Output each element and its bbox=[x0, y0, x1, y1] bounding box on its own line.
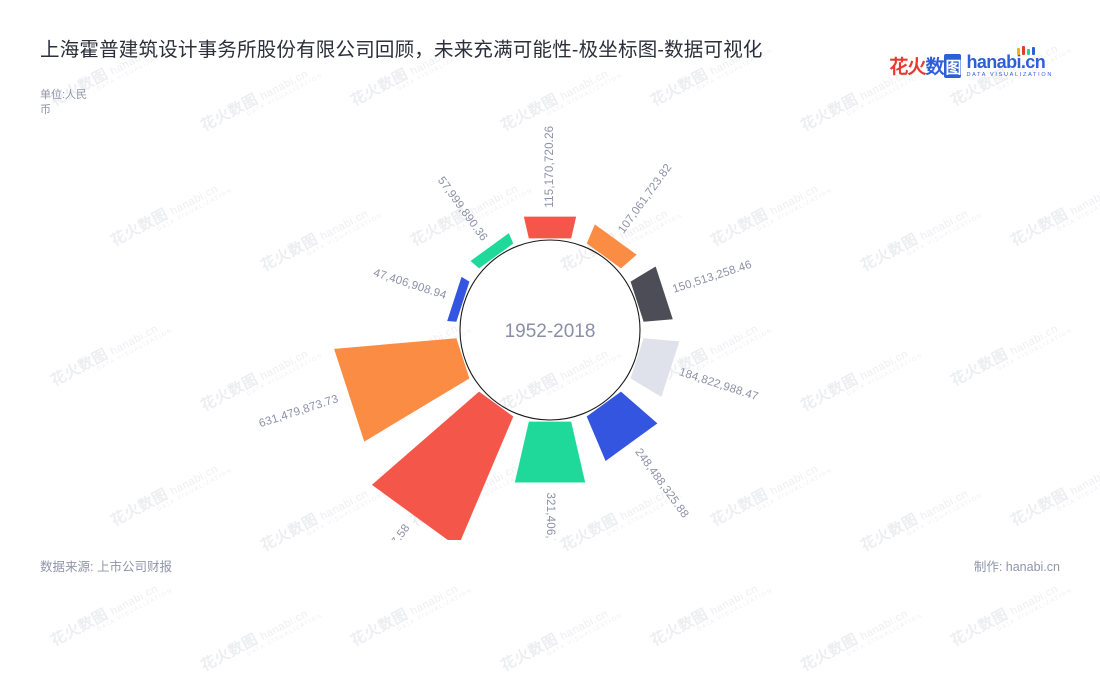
page-title: 上海霍普建筑设计事务所股份有限公司回顾，未来充满可能性-极坐标图-数据可视化 bbox=[40, 34, 840, 66]
watermark-mark: 花火数图 hanabi.cnDATA VISUALIZATION bbox=[647, 571, 774, 654]
data-source-text: 数据来源: 上市公司财报 bbox=[40, 556, 172, 575]
bar-value-label: 47,406,908.94 bbox=[372, 267, 449, 302]
watermark-mark: 花火数图 hanabi.cnDATA VISUALIZATION bbox=[497, 596, 624, 679]
bar-value-label: 115,170,720.26 bbox=[544, 126, 556, 208]
chart-page: 花火数图 hanabi.cnDATA VISUALIZATION花火数图 han… bbox=[0, 0, 1100, 620]
polar-bar[interactable] bbox=[515, 422, 585, 483]
bar-value-label: 107,061,723.82 bbox=[616, 162, 674, 236]
bar-value-label: 248,488,325.88 bbox=[632, 446, 690, 520]
bar-value-label: 57,999,890.36 bbox=[435, 175, 489, 244]
page-footer: 数据来源: 上市公司财报 制作: hanabi.cn bbox=[0, 556, 1100, 580]
logo-cn-text: 花火数图 bbox=[889, 52, 961, 79]
polar-bar[interactable] bbox=[524, 217, 576, 239]
credit-text: 制作: hanabi.cn bbox=[974, 556, 1060, 575]
polar-bar-chart: 1952-2018 115,170,720.26107,061,723.8215… bbox=[0, 95, 1100, 540]
polar-bar[interactable] bbox=[587, 392, 658, 461]
logo-en-block: hanabi.cn DATA VISUALIZATION bbox=[966, 53, 1053, 79]
watermark-mark: 花火数图 hanabi.cnDATA VISUALIZATION bbox=[347, 571, 474, 654]
watermark-mark: 花火数图 hanabi.cnDATA VISUALIZATION bbox=[797, 596, 924, 679]
bar-value-label: 631,479,873.73 bbox=[258, 393, 340, 430]
logo-char-tu: 图 bbox=[944, 54, 961, 78]
hanabi-logo: 花火数图 hanabi.cn DATA VISUALIZATION bbox=[889, 52, 1053, 79]
polar-bar[interactable] bbox=[631, 267, 673, 322]
logo-dots-icon bbox=[1017, 46, 1039, 55]
logo-char-hua: 花 bbox=[889, 52, 907, 79]
watermark-mark: 花火数图 hanabi.cnDATA VISUALIZATION bbox=[197, 596, 324, 679]
bar-value-label: 321,406,700 bbox=[544, 492, 556, 540]
bar-value-label: 184,822,988.47 bbox=[677, 366, 759, 403]
bar-value-label: 730,674,447.58 bbox=[354, 522, 412, 540]
bars-group bbox=[334, 217, 679, 540]
page-title-block: 上海霍普建筑设计事务所股份有限公司回顾，未来充满可能性-极坐标图-数据可视化 bbox=[40, 34, 840, 66]
logo-en-text: hanabi.cn bbox=[966, 53, 1053, 71]
logo-tagline: DATA VISUALIZATION bbox=[966, 73, 1053, 79]
watermark-mark: 花火数图 hanabi.cnDATA VISUALIZATION bbox=[47, 571, 174, 654]
center-range-label: 1952-2018 bbox=[505, 321, 596, 342]
bar-value-label: 150,513,258.46 bbox=[671, 259, 753, 296]
logo-char-shu: 数 bbox=[925, 52, 943, 79]
watermark-mark: 花火数图 hanabi.cnDATA VISUALIZATION bbox=[947, 571, 1074, 654]
chart-subtitle: 单位:人民币 bbox=[40, 88, 94, 118]
logo-char-huo: 火 bbox=[907, 52, 925, 79]
polar-bar[interactable] bbox=[447, 277, 469, 322]
polar-chart-svg: 1952-2018 115,170,720.26107,061,723.8215… bbox=[0, 95, 1100, 540]
